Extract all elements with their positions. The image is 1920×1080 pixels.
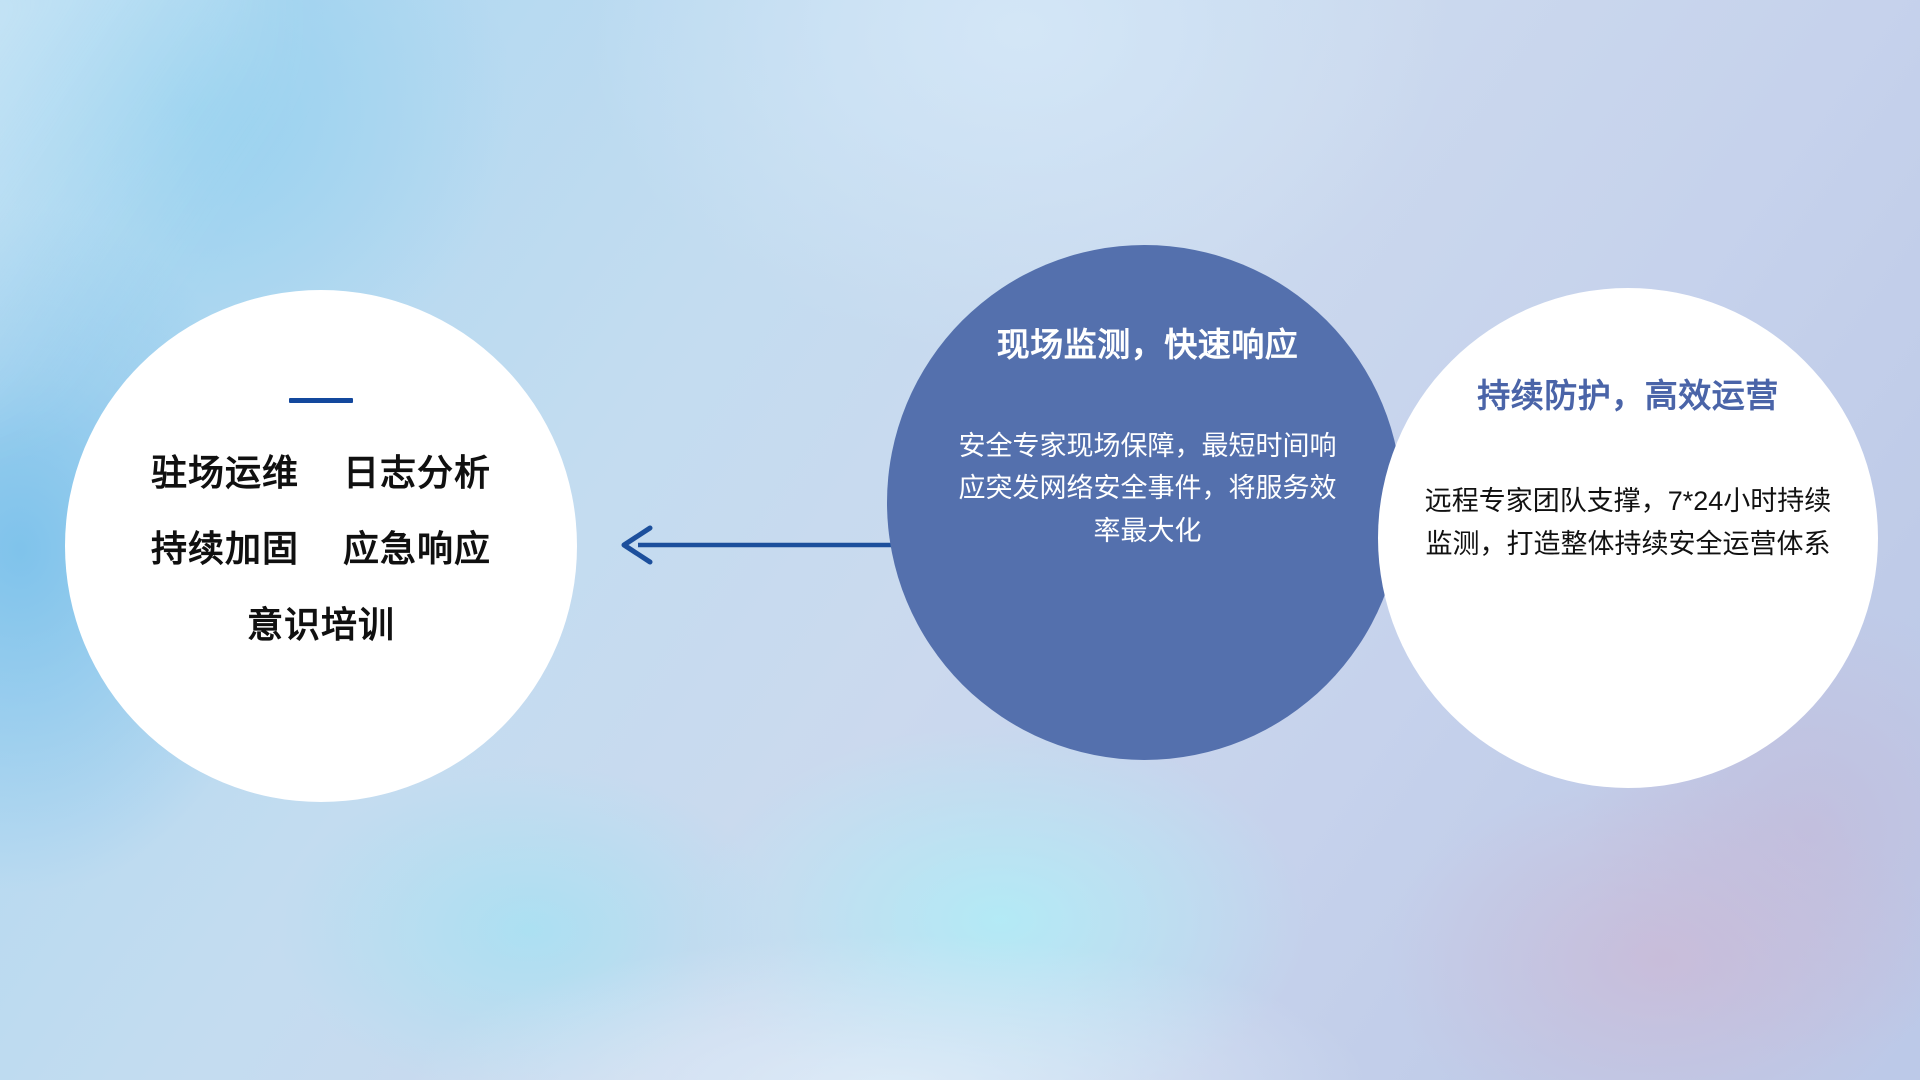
onsite-monitoring-title: 现场监测，快速响应 <box>907 325 1388 365</box>
continuous-protection-content: 持续防护，高效运营 远程专家团队支撑，7*24小时持续监测，打造整体持续安全运营… <box>1392 376 1864 566</box>
capability-line-3: 意识培训 <box>65 607 577 643</box>
continuous-protection-body: 远程专家团队支撑，7*24小时持续监测，打造整体持续安全运营体系 <box>1392 480 1864 566</box>
service-capabilities-content: 驻场运维 日志分析 持续加固 应急响应 意识培训 <box>65 398 577 643</box>
continuous-protection-circle[interactable]: 持续防护，高效运营 远程专家团队支撑，7*24小时持续监测，打造整体持续安全运营… <box>1378 288 1878 788</box>
onsite-monitoring-body: 安全专家现场保障，最短时间响应突发网络安全事件，将服务效率最大化 <box>907 425 1388 553</box>
onsite-monitoring-content: 现场监测，快速响应 安全专家现场保障，最短时间响应突发网络安全事件，将服务效率最… <box>907 325 1388 553</box>
accent-dash-divider <box>289 398 353 403</box>
capability-line-2: 持续加固 应急响应 <box>65 531 577 567</box>
arrow-middle-to-left <box>610 515 920 575</box>
slide-canvas: 现场监测，快速响应 安全专家现场保障，最短时间响应突发网络安全事件，将服务效率最… <box>0 0 1920 1080</box>
service-capabilities-circle[interactable]: 驻场运维 日志分析 持续加固 应急响应 意识培训 <box>65 290 577 802</box>
capability-line-1: 驻场运维 日志分析 <box>65 455 577 491</box>
continuous-protection-title: 持续防护，高效运营 <box>1392 376 1864 416</box>
onsite-monitoring-circle[interactable]: 现场监测，快速响应 安全专家现场保障，最短时间响应突发网络安全事件，将服务效率最… <box>887 245 1402 760</box>
